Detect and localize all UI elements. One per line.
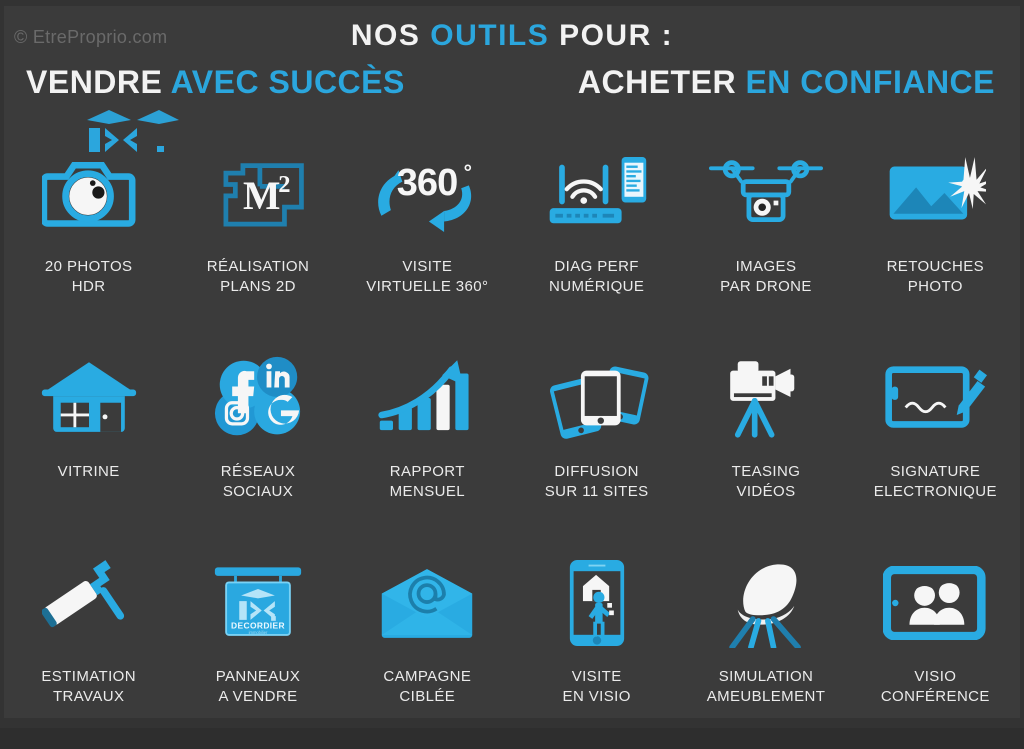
grid-cell-panneaux-a-vendre[interactable]: DECORDIER immobilier PANNEAUX A VENDRE <box>173 544 342 749</box>
bar-chart-arrow-icon <box>367 345 487 450</box>
grid-cell-reseaux-sociaux[interactable]: RÉSEAUX SOCIAUX <box>173 339 342 544</box>
page-title-part-1: NOS <box>351 19 430 52</box>
cell-label: SIMULATION AMEUBLEMENT <box>707 667 826 707</box>
svg-text:2: 2 <box>278 171 290 198</box>
svg-text:M: M <box>243 174 280 218</box>
svg-text:°: ° <box>464 161 472 184</box>
tablet-people-icon <box>875 550 995 655</box>
heading-vendre-white: VENDRE <box>26 64 162 100</box>
cell-label: PANNEAUX A VENDRE <box>216 667 301 707</box>
cell-label: CAMPAGNE CIBLÉE <box>383 667 471 707</box>
grid-cell-20-photos-hdr[interactable]: 20 PHOTOS HDR <box>4 134 173 339</box>
cell-label: ESTIMATION TRAVAUX <box>41 667 136 707</box>
page-title-part-2: OUTILS <box>430 19 549 52</box>
cell-label: DIAG PERF NUMÉRIQUE <box>549 257 644 297</box>
cell-label: IMAGES PAR DRONE <box>720 257 812 297</box>
tablets-icon <box>537 345 657 450</box>
cell-label: VISITE EN VISIO <box>563 667 631 707</box>
video-camera-tripod-icon <box>706 345 826 450</box>
floorplan-m2-icon: M 2 <box>198 140 318 245</box>
cell-label: VISIO CONFÉRENCE <box>881 667 990 707</box>
cell-label: VISITE VIRTUELLE 360° <box>366 257 488 297</box>
grid-cell-estimation-travaux[interactable]: ESTIMATION TRAVAUX <box>4 544 173 749</box>
grid-cell-teasing-videos[interactable]: TEASING VIDÉOS <box>681 339 850 544</box>
svg-text:360: 360 <box>397 161 458 203</box>
heading-acheter-white: ACHETER <box>578 64 736 100</box>
grid-cell-retouches-photo[interactable]: RETOUCHES PHOTO <box>851 134 1020 339</box>
grid-cell-rapport-mensuel[interactable]: RAPPORT MENSUEL <box>343 339 512 544</box>
cell-label: RAPPORT MENSUEL <box>390 462 465 502</box>
heading-acheter-blue: EN CONFIANCE <box>736 64 995 100</box>
grid-cell-signature-electronique[interactable]: SIGNATURE ELECTRONIQUE <box>851 339 1020 544</box>
page-title-part-3: POUR : <box>549 19 673 52</box>
shop-house-icon <box>29 345 149 450</box>
grid-cell-simulation-ameublement[interactable]: SIMULATION AMEUBLEMENT <box>681 544 850 749</box>
signature-tablet-icon <box>875 345 995 450</box>
grid-cell-visite-en-visio[interactable]: VISITE EN VISIO <box>512 544 681 749</box>
envelope-at-icon <box>367 550 487 655</box>
grid-cell-diag-perf[interactable]: DIAG PERF NUMÉRIQUE <box>512 134 681 339</box>
phone-visit-icon <box>537 550 657 655</box>
router-wifi-phone-icon <box>537 140 657 245</box>
page-title: NOS OUTILS POUR : <box>4 19 1020 53</box>
photo-retouch-icon <box>875 140 995 245</box>
cell-label: RÉSEAUX SOCIAUX <box>221 462 296 502</box>
tools-grid: 20 PHOTOS HDR M 2 RÉALISATION PLANS 2D <box>4 134 1020 749</box>
cell-label: 20 PHOTOS HDR <box>45 257 133 297</box>
grid-cell-campagne-ciblee[interactable]: CAMPAGNE CIBLÉE <box>343 544 512 749</box>
grid-cell-visite-virtuelle[interactable]: 360 ° VISITE VIRTUELLE 360° <box>343 134 512 339</box>
cell-label: DIFFUSION SUR 11 SITES <box>545 462 649 502</box>
svg-text:DECORDIER: DECORDIER <box>231 620 285 630</box>
camera-icon <box>29 140 149 245</box>
grid-cell-diffusion[interactable]: DIFFUSION SUR 11 SITES <box>512 339 681 544</box>
heading-vendre: VENDRE AVEC SUCCÈS <box>26 64 405 101</box>
hanging-sign-icon: DECORDIER immobilier <box>198 550 318 655</box>
grid-cell-visio-conference[interactable]: VISIO CONFÉRENCE <box>851 544 1020 749</box>
paint-roller-icon <box>29 550 149 655</box>
cell-label: VITRINE <box>58 462 120 482</box>
svg-text:immobilier: immobilier <box>249 629 268 634</box>
grid-cell-vitrine[interactable]: VITRINE <box>4 339 173 544</box>
heading-acheter: ACHETER EN CONFIANCE <box>578 64 995 101</box>
360-arrows-icon: 360 ° <box>367 140 487 245</box>
chair-icon <box>706 550 826 655</box>
cell-label: RETOUCHES PHOTO <box>887 257 985 297</box>
drone-icon <box>706 140 826 245</box>
grid-cell-plans-2d[interactable]: M 2 RÉALISATION PLANS 2D <box>173 134 342 339</box>
grid-cell-images-drone[interactable]: IMAGES PAR DRONE <box>681 134 850 339</box>
heading-vendre-blue: AVEC SUCCÈS <box>162 64 404 100</box>
cell-label: SIGNATURE ELECTRONIQUE <box>874 462 997 502</box>
cell-label: TEASING VIDÉOS <box>732 462 801 502</box>
social-networks-icon <box>198 345 318 450</box>
infographic-page: © EtreProprio.com NOS OUTILS POUR : VEND… <box>0 0 1024 728</box>
cell-label: RÉALISATION PLANS 2D <box>207 257 309 297</box>
